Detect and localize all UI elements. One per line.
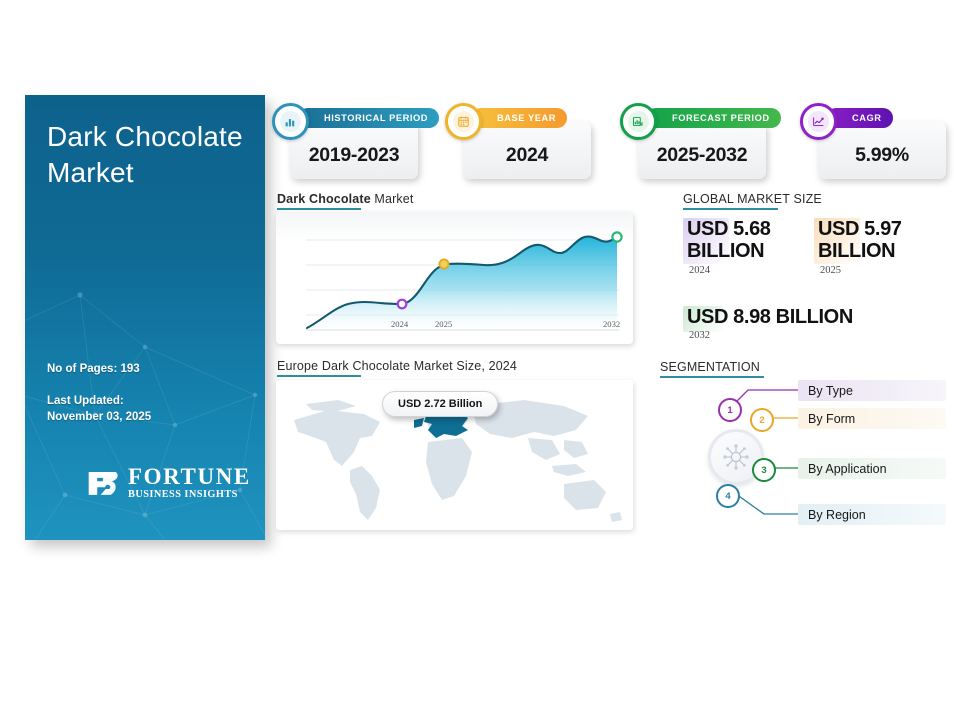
kpi-value: 5.99% <box>855 144 909 167</box>
segment-number-text: 4 <box>725 491 730 502</box>
segment-item-by-type[interactable]: By Type <box>798 380 946 401</box>
chart-heading: Dark Chocolate Market <box>277 192 414 206</box>
updated-label: Last Updated: <box>47 393 252 410</box>
calendar-icon <box>445 103 482 140</box>
pages-row: No of Pages: 193 <box>47 361 252 378</box>
market-size-chart: 2024 2025 2032 <box>276 212 633 344</box>
forecast-chart-icon <box>620 103 657 140</box>
market-trend-area-chart <box>276 212 633 344</box>
growth-chart-icon <box>800 103 837 140</box>
chart-heading-bold: Dark Chocolate <box>277 192 371 206</box>
map-heading: Europe Dark Chocolate Market Size, 2024 <box>277 359 517 373</box>
kpi-label-pill: BASE YEAR <box>471 108 567 128</box>
market-size-value: USD 8.98 BILLION <box>683 306 933 328</box>
chart-marker-2024 <box>398 300 407 309</box>
kpi-value-card: 2024 <box>463 122 591 179</box>
heading-underline <box>683 208 778 210</box>
segment-label: By Region <box>808 508 866 522</box>
chart-marker-2032 <box>612 232 621 241</box>
fortune-business-insights-logo: FORTUNE BUSINESS INSIGHTS <box>87 465 251 500</box>
logo-primary-text: FORTUNE <box>128 465 251 488</box>
kpi-label-pill: FORECAST PERIOD <box>646 108 781 128</box>
market-size-2024: USD 5.68 BILLION 2024 <box>683 218 808 276</box>
kpi-label: HISTORICAL PERIOD <box>324 113 428 123</box>
segment-label: By Type <box>808 384 853 398</box>
kpi-value: 2019-2023 <box>309 144 400 167</box>
chart-heading-rest: Market <box>371 192 414 206</box>
pages-value: 193 <box>121 363 140 375</box>
report-meta: No of Pages: 193 Last Updated: November … <box>47 361 252 426</box>
global-market-size-heading: GLOBAL MARKET SIZE <box>683 192 822 206</box>
chart-marker-2025 <box>439 259 448 268</box>
segment-label: By Application <box>808 462 887 476</box>
segment-item-by-form[interactable]: By Form <box>798 408 946 429</box>
heading-underline <box>277 208 361 210</box>
connector-by-region <box>736 494 800 514</box>
europe-market-size-bubble: USD 2.72 Billion <box>382 391 498 417</box>
fbi-logo-mark <box>87 468 121 498</box>
kpi-label: FORECAST PERIOD <box>672 113 770 123</box>
kpi-value-card: 2025-2032 <box>638 122 766 179</box>
market-size-value: USD 5.68 BILLION <box>683 218 805 263</box>
segment-label: By Form <box>808 412 855 426</box>
market-size-year: 2025 <box>814 265 939 276</box>
kpi-label: BASE YEAR <box>497 113 556 123</box>
segment-number-text: 3 <box>761 465 766 476</box>
segmentation-diagram: 1 2 3 4 By Type By Form By Application B… <box>660 372 950 532</box>
kpi-value-card: 2019-2023 <box>290 122 418 179</box>
report-title: Dark Chocolate Market <box>47 119 247 190</box>
logo-secondary-text: BUSINESS INSIGHTS <box>128 490 251 500</box>
market-size-2025: USD 5.97 BILLION 2025 <box>814 218 939 276</box>
segment-number-3: 3 <box>752 458 776 482</box>
heading-underline <box>277 375 361 377</box>
report-sidebar: Dark Chocolate Market No of Pages: 193 L… <box>25 95 265 540</box>
kpi-label-pill: HISTORICAL PERIOD <box>298 108 439 128</box>
segment-number-2: 2 <box>750 408 774 432</box>
chart-xtick-2024: 2024 <box>391 319 408 329</box>
chart-xtick-2025: 2025 <box>435 319 452 329</box>
segment-number-1: 1 <box>718 398 742 422</box>
bar-chart-icon <box>272 103 309 140</box>
segment-number-text: 2 <box>759 415 764 426</box>
kpi-label: CAGR <box>852 113 882 123</box>
market-size-2032: USD 8.98 BILLION 2032 <box>683 306 933 341</box>
chart-xtick-2032: 2032 <box>603 319 620 329</box>
segment-item-by-application[interactable]: By Application <box>798 458 946 479</box>
market-size-value: USD 5.97 BILLION <box>814 218 936 263</box>
segment-number-4: 4 <box>716 484 740 508</box>
pages-label: No of Pages: <box>47 363 117 375</box>
segment-number-text: 1 <box>727 405 732 416</box>
market-size-year: 2024 <box>683 265 808 276</box>
segment-item-by-region[interactable]: By Region <box>798 504 946 525</box>
updated-value: November 03, 2025 <box>47 409 252 426</box>
market-size-year: 2032 <box>683 330 933 341</box>
kpi-value: 2025-2032 <box>657 144 748 167</box>
kpi-value: 2024 <box>506 144 548 167</box>
kpi-value-card: 5.99% <box>818 122 946 179</box>
